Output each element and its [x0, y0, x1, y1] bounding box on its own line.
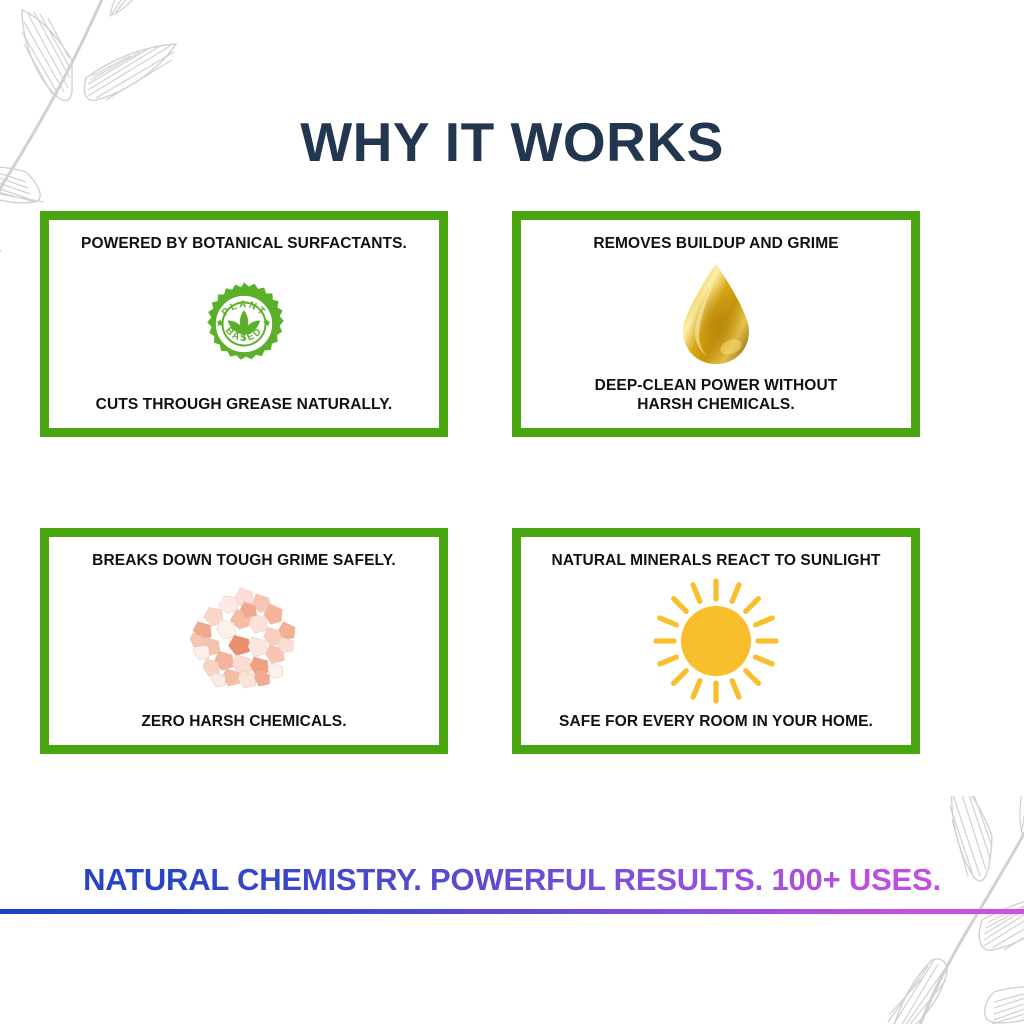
- plant-based-badge-icon: PLANT BASED: [201, 281, 287, 367]
- card-bottom-text-line-1: DEEP-CLEAN POWER WITHOUT: [531, 376, 901, 395]
- card-top-text: POWERED BY BOTANICAL SURFACTANTS.: [59, 234, 429, 253]
- card-bottom-text-line-2: HARSH CHEMICALS.: [531, 395, 901, 414]
- feature-card-removes-buildup[interactable]: REMOVES BUILDUP AND GRIME: [512, 211, 920, 437]
- salt-crystals-icon: [185, 582, 303, 700]
- oil-droplet-icon: [675, 261, 757, 369]
- footer-gradient-divider: [0, 909, 1024, 914]
- card-bottom-text: SAFE FOR EVERY ROOM IN YOUR HOME.: [531, 712, 901, 733]
- card-bottom-text: ZERO HARSH CHEMICALS.: [59, 712, 429, 733]
- card-bottom-text: DEEP-CLEAN POWER WITHOUT HARSH CHEMICALS…: [531, 376, 901, 416]
- footer-tagline: NATURAL CHEMISTRY. POWERFUL RESULTS. 100…: [0, 860, 1024, 900]
- sun-icon: [646, 571, 786, 711]
- feature-card-breaks-down-grime[interactable]: BREAKS DOWN TOUGH GRIME SAFELY.: [40, 528, 448, 754]
- card-icon-wrapper: [531, 253, 901, 376]
- feature-card-botanical-surfactants[interactable]: POWERED BY BOTANICAL SURFACTANTS.: [40, 211, 448, 437]
- card-icon-wrapper: [531, 570, 901, 712]
- feature-card-grid: POWERED BY BOTANICAL SURFACTANTS.: [40, 211, 984, 754]
- card-icon-wrapper: [59, 570, 429, 712]
- page-title: WHY IT WORKS: [0, 111, 1024, 173]
- feature-card-minerals-sunlight[interactable]: NATURAL MINERALS REACT TO SUNLIGHT: [512, 528, 920, 754]
- card-top-text: BREAKS DOWN TOUGH GRIME SAFELY.: [59, 551, 429, 570]
- poster-canvas: WHY IT WORKS POWERED BY BOTANICAL SURFAC…: [0, 0, 1024, 1024]
- card-icon-wrapper: PLANT BASED: [59, 253, 429, 395]
- card-bottom-text: CUTS THROUGH GREASE NATURALLY.: [59, 395, 429, 416]
- card-top-text: REMOVES BUILDUP AND GRIME: [531, 234, 901, 253]
- card-top-text: NATURAL MINERALS REACT TO SUNLIGHT: [531, 551, 901, 570]
